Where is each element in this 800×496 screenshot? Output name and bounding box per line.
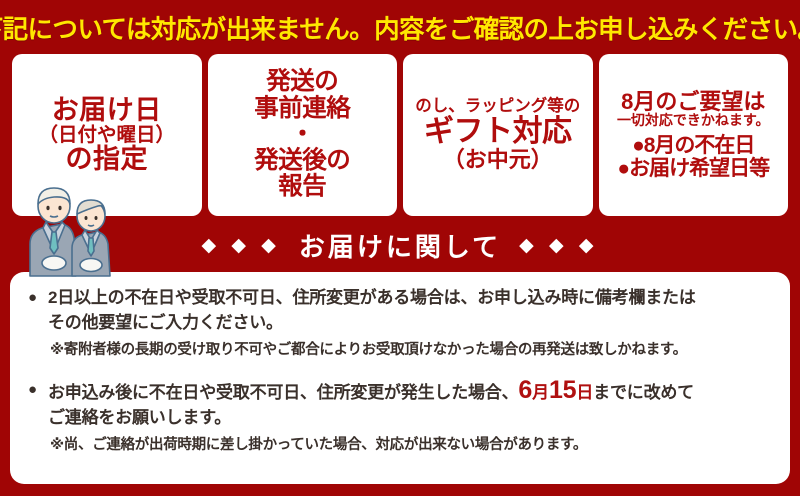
bullet-1-note: ※寄附者様の長期の受け取り不可やご都合によりお受取頂けなかった場合の再発送は致し…	[50, 340, 772, 362]
deadline-day-unit: 日	[576, 383, 593, 402]
bullet-2-text-before-date: お申込み後に不在日や受取不可日、住所変更が発生した場合、	[48, 383, 518, 402]
bullet-1-body: 2日以上の不在日や受取不可日、住所変更がある場合は、お申し込み時に備考欄または …	[48, 286, 772, 335]
bullet-1-line-1: 2日以上の不在日や受取不可日、住所変更がある場合は、お申し込み時に備考欄または	[48, 286, 772, 311]
bullet-2-line-2: ご連絡をお願いします。	[48, 406, 772, 431]
card2-separator-dot: ・	[290, 122, 314, 148]
bullet-marker-icon: ●	[28, 378, 48, 401]
card2-line3: 発送後の	[254, 148, 350, 174]
card3-line1: のし、ラッピング等の	[415, 98, 580, 116]
bullet-2-line-1: お申込み後に不在日や受取不可日、住所変更が発生した場合、6月15日までに改めて	[48, 378, 772, 406]
bullet-item-1: ● 2日以上の不在日や受取不可日、住所変更がある場合は、お申し込み時に備考欄また…	[28, 286, 772, 335]
card4-line2: 一切対応できかねます。	[617, 113, 770, 128]
card3-line2: ギフト対応	[424, 116, 572, 148]
bullet-2-text-after-date: までに改めて	[593, 383, 694, 402]
delivery-notice-poster: 下記については対応が出来ません。内容をご確認の上お申し込みください。 お届け日 …	[0, 0, 800, 496]
card-gift-wrapping: のし、ラッピング等の ギフト対応 （お中元）	[403, 54, 593, 216]
card1-line3: の指定	[66, 145, 149, 174]
card4-bullet1: ●8月の不在日	[632, 135, 754, 157]
card2-line2: 事前連絡	[254, 96, 350, 122]
deadline-month-unit: 月	[532, 383, 549, 402]
bullet-2-body: お申込み後に不在日や受取不可日、住所変更が発生した場合、6月15日までに改めて …	[48, 378, 772, 430]
bullet-item-2: ● お申込み後に不在日や受取不可日、住所変更が発生した場合、6月15日までに改め…	[28, 378, 772, 430]
card-shipping-notification: 発送の 事前連絡 ・ 発送後の 報告	[208, 54, 398, 216]
bullet-2-note: ※尚、ご連絡が出荷時期に差し掛かっていた場合、対応が出来ない場合があります。	[50, 435, 772, 457]
card-august-requests: 8月のご要望は 一切対応できかねます。 ●8月の不在日 ●お届け希望日等	[599, 54, 789, 216]
deadline-month-number: 6	[518, 376, 532, 404]
delivery-info-panel: ● 2日以上の不在日や受取不可日、住所変更がある場合は、お申し込み時に備考欄また…	[10, 272, 790, 484]
page-title: 下記については対応が出来ません。内容をご確認の上お申し込みください。	[0, 0, 800, 54]
bullet-1-line-2: その他要望にご入力ください。	[48, 311, 772, 336]
two-bowing-people-icon	[10, 172, 122, 280]
card2-line1: 発送の	[266, 69, 338, 95]
section-title-text: お届けに関して	[299, 227, 501, 264]
deadline-day-number: 15	[549, 376, 576, 404]
card4-bullet2: ●お届け希望日等	[617, 158, 769, 180]
card1-line1: お届け日	[52, 96, 162, 125]
card3-line3: （お中元）	[443, 148, 553, 172]
diamond-right-icon: ◆ ◆ ◆	[519, 234, 598, 257]
diamond-left-icon: ◆ ◆ ◆	[201, 234, 280, 257]
card4-line1: 8月のご要望は	[621, 90, 765, 114]
spacer	[28, 362, 772, 378]
card2-line4: 報告	[278, 174, 326, 200]
card1-line2: （日付や曜日）	[38, 125, 175, 146]
bullet-marker-icon: ●	[28, 286, 48, 309]
